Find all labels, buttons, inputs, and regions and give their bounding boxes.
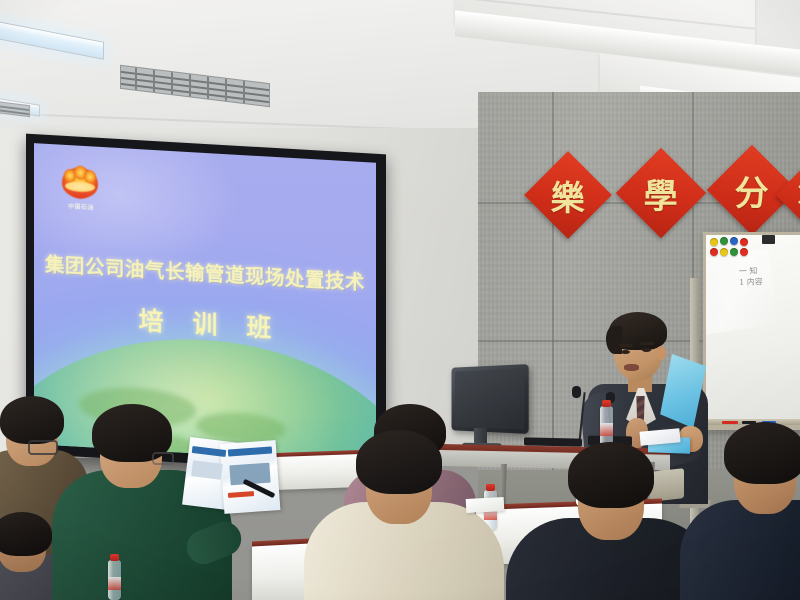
attendee-cream-hair	[356, 430, 442, 494]
presenter-chair[interactable]	[650, 468, 684, 502]
whiteboard-clip-icon	[762, 235, 775, 244]
monitor-back-panel	[455, 368, 524, 429]
attendee-navy-body	[680, 500, 800, 600]
presenter-ear	[656, 346, 666, 360]
water-bottle-presenter[interactable]	[600, 406, 613, 446]
bottle-cap-icon	[602, 400, 611, 407]
magnet-yellow-2-icon	[720, 248, 728, 256]
magnet-green-icon	[720, 237, 728, 245]
attendee-brown-jacket-hair	[0, 396, 64, 444]
bottle-label-left	[108, 577, 121, 590]
marker-red-icon[interactable]	[722, 421, 738, 424]
projection-screen: 中国石油 集团公司油气长输管道现场处置技术 培 训 班	[26, 134, 386, 475]
magnet-red-icon	[740, 238, 748, 246]
magnet-red-3-icon	[740, 248, 748, 256]
presenter-mouth	[624, 364, 639, 371]
lcd-monitor	[452, 364, 529, 434]
attendee-navy-hair	[724, 422, 800, 484]
attendee-dark-suit-hair	[568, 442, 654, 508]
diamond-plaque-char-3: 分	[735, 166, 769, 215]
presenter-brow-right	[640, 342, 654, 345]
diamond-plaque-char-2: 學	[644, 169, 678, 218]
whiteboard-glare	[703, 249, 779, 335]
presenter-eye-left	[621, 350, 630, 354]
ceiling-air-grille	[120, 65, 270, 107]
fluorescent-panel-far-left	[0, 18, 104, 60]
magnet-cluster	[710, 237, 758, 259]
petrochina-logo: 中国石油	[62, 167, 98, 205]
magnet-yellow-icon	[710, 238, 718, 246]
training-seminar-photo: 樂 學 分 享 一 知 1 内容	[0, 0, 800, 600]
bottle-cap-icon-center	[486, 484, 495, 491]
whiteboard[interactable]: 一 知 1 内容	[703, 232, 800, 430]
water-bottle-left[interactable]	[108, 560, 121, 600]
bottle-cap-icon-left	[110, 554, 119, 561]
projected-slide: 中国石油 集团公司油气长输管道现场处置技术 培 训 班	[34, 143, 376, 464]
handout-papers-right	[466, 497, 505, 513]
magnet-blue-icon	[730, 237, 738, 245]
bottle-label	[600, 423, 613, 436]
presenter-brow-left	[619, 344, 633, 347]
presenter-hair-side	[606, 326, 622, 354]
magnet-green-2-icon	[730, 248, 738, 256]
attendee-gray-hair	[0, 512, 52, 556]
diamond-plaque-char-1: 樂	[551, 171, 585, 220]
wall-seam-1	[552, 92, 554, 492]
attendee-green-glasses-icon	[152, 452, 174, 465]
magnet-red-2-icon	[710, 248, 718, 256]
presenter-eye-right	[642, 348, 651, 352]
whiteboard-writing: 一 知 1 内容	[739, 264, 800, 288]
microphone-head-1	[572, 386, 581, 398]
attendee-glasses-icon	[28, 440, 58, 455]
